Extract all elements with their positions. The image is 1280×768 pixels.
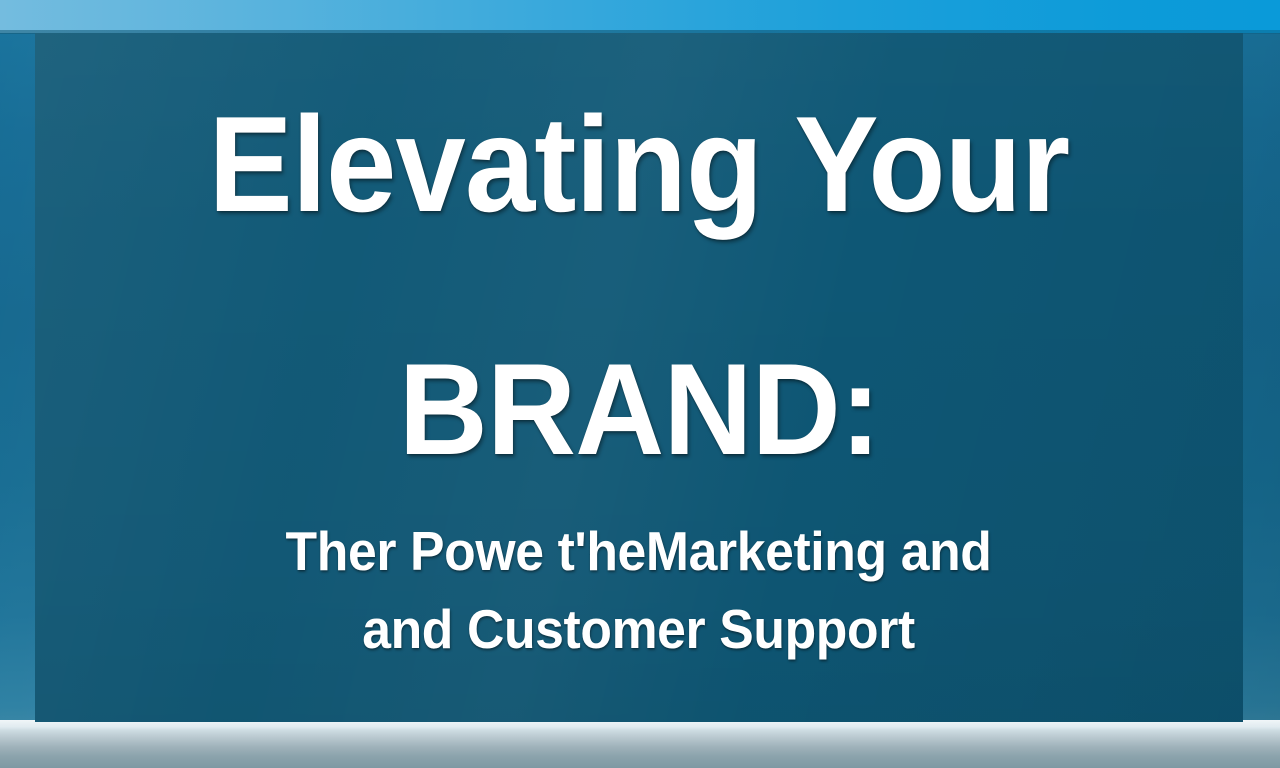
poster-canvas: Elevating Your BRAND: Ther Powe t'heMark… [0,0,1280,768]
headline-brand: BRAND: [398,344,879,474]
subtitle-block: Ther Powe t'heMarketing and and Customer… [286,512,992,668]
subtitle-line-1: Ther Powe t'heMarketing and [286,512,992,590]
headline-primary: Elevating Your [209,95,1070,234]
top-gradient-band [0,0,1280,33]
title-text-block: Elevating Your BRAND: Ther Powe t'heMark… [35,33,1243,722]
subtitle-line-2: and Customer Support [286,590,992,668]
